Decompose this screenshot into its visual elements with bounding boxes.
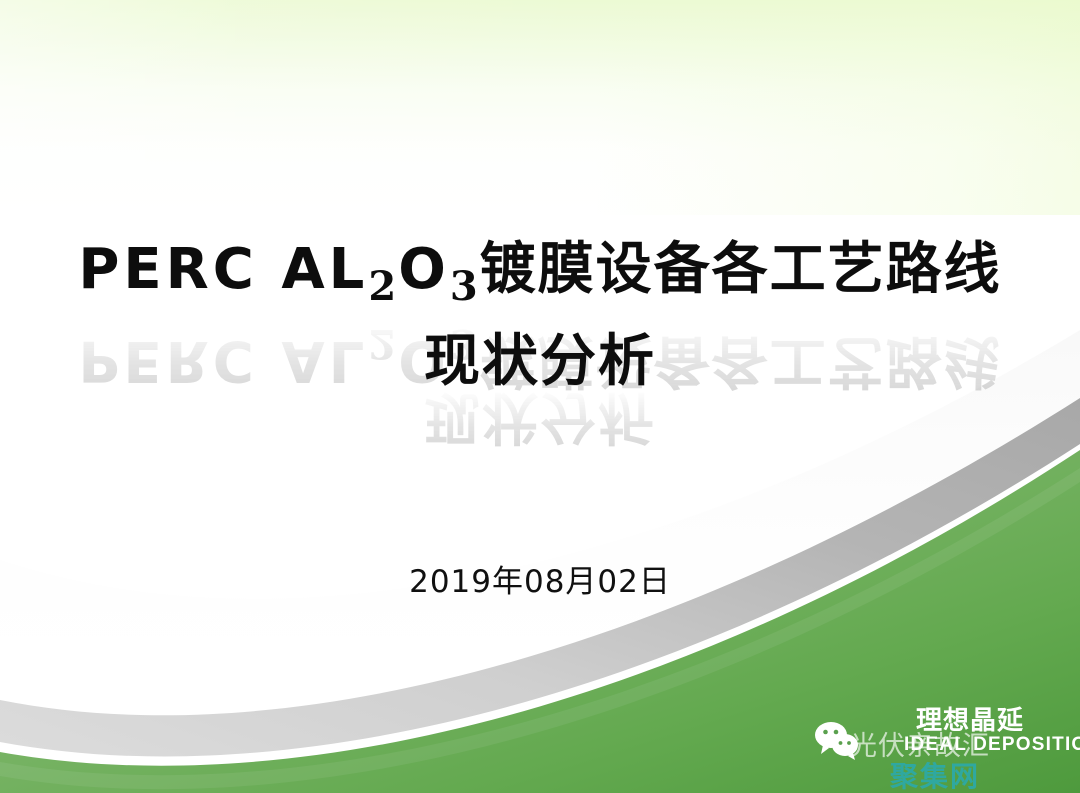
presentation-title-slide: PERC AL2O3镀膜设备各工艺路线 现状分析 PERC AL2O3镀膜设备各… xyxy=(0,0,1080,793)
title-subscript-3: 3 xyxy=(450,263,480,310)
top-gradient-wash-horizontal xyxy=(0,0,1080,215)
brand-name-en: IDEAL DEPOSITION xyxy=(904,734,1080,756)
title-line-1: PERC AL2O3镀膜设备各工艺路线 xyxy=(0,232,1080,324)
title-latin-perc-al: PERC AL xyxy=(78,237,368,302)
slide-title: PERC AL2O3镀膜设备各工艺路线 现状分析 xyxy=(0,232,1080,398)
brand-name-cn: 理想晶延 xyxy=(916,700,1024,737)
top-gradient-wash xyxy=(0,0,1080,215)
slide-date: 2019年08月02日 xyxy=(0,556,1080,601)
brand-watermark-group: 光伏亲故汇 理想晶延 IDEAL DEPOSITION 聚集网 xyxy=(812,694,1080,793)
title-line-2: 现状分析 xyxy=(0,324,1080,398)
title-cjk-part: 镀膜设备各工艺路线 xyxy=(480,236,1002,302)
title-subscript-2: 2 xyxy=(368,263,398,310)
watermark-site-name: 聚集网 xyxy=(890,755,980,793)
title-latin-o: O xyxy=(398,237,450,302)
